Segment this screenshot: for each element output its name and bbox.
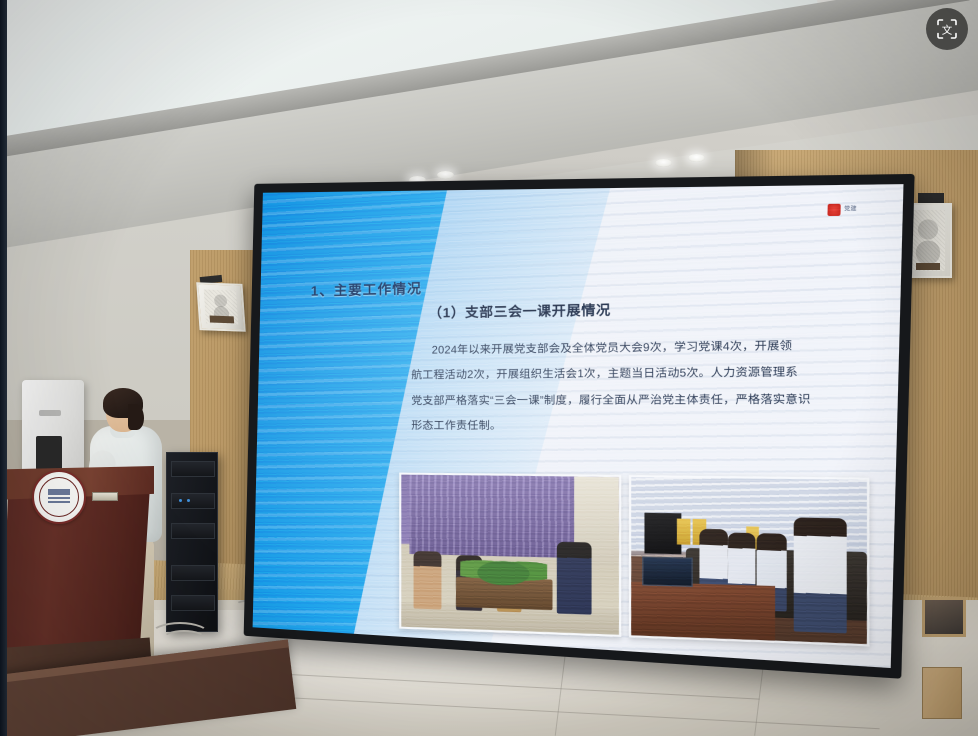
slide-logo: 党建 [827, 204, 857, 216]
rack-unit [171, 523, 215, 539]
photo-curtain [409, 475, 578, 558]
slide-body-line: 航工程活动2次，开展组织生活会1次，主题当日活动5次。人力资源管理系 [412, 365, 870, 384]
speaker-brand-plate [210, 316, 235, 324]
led-video-wall[interactable]: 党建 1、主要工作情况 （1）支部三会一课开展情况 2024年以来开展党支部会及… [244, 174, 915, 679]
image-left-edge [0, 0, 7, 736]
rack-unit [171, 595, 215, 611]
slide-photo-row [399, 473, 869, 647]
downlight-icon [437, 171, 454, 179]
dispenser-bay [36, 436, 62, 470]
presentation-slide: 党建 1、主要工作情况 （1）支部三会一课开展情况 2024年以来开展党支部会及… [253, 184, 904, 668]
dispenser-taps[interactable] [39, 410, 61, 416]
scan-button-glyph: 文 [942, 24, 953, 37]
rack-led-icon [187, 499, 190, 502]
rack-unit [171, 461, 215, 477]
sofa-study-session-photo [628, 475, 868, 646]
university-crest-icon [32, 470, 86, 524]
photo-plant [460, 552, 547, 588]
av-equipment-rack [166, 452, 218, 632]
screenshot-canvas: 党建 1、主要工作情况 （1）支部三会一课开展情况 2024年以来开展党支部会及… [0, 0, 978, 736]
photo-person [794, 518, 847, 633]
slide-body-line: 形态工作责任制。 [412, 419, 870, 435]
speaker-mount-right [918, 193, 944, 203]
wall-speaker-left [196, 282, 246, 331]
meeting-round-table-photo [399, 473, 621, 637]
slide-section-title: 1、主要工作情况 [310, 276, 421, 299]
floor-cable [162, 630, 206, 648]
photo-person [556, 542, 592, 615]
party-emblem-icon [827, 204, 840, 216]
photo-person [413, 551, 441, 610]
slide-body-line: 党支部严格落实“三会一课”制度，履行全面从严治党主体责任，严格落实意识 [412, 392, 870, 409]
photo-laptop [642, 557, 693, 587]
photo-plaque [676, 519, 690, 545]
rack-unit [171, 493, 215, 509]
rack-led-icon [179, 499, 182, 502]
crest-mark [48, 489, 70, 505]
photo-desk [630, 581, 774, 640]
slide-body-text: 2024年以来开展党支部会及全体党员大会9次，学习党课4次，开展领 航工程活动2… [412, 338, 870, 446]
slide-subtitle: （1）支部三会一课开展情况 [429, 299, 611, 322]
rack-unit [171, 565, 215, 581]
speaker-grille [911, 210, 945, 271]
electrical-panel-cover [922, 667, 962, 719]
text-scan-button[interactable]: 文 [926, 8, 968, 50]
speaker-brand-plate [916, 263, 940, 270]
downlight-icon [688, 154, 705, 162]
screen-surface[interactable]: 党建 1、主要工作情况 （1）支部三会一课开展情况 2024年以来开展党支部会及… [253, 184, 904, 668]
slide-logo-text: 党建 [844, 207, 857, 213]
text-scan-icon: 文 [934, 16, 960, 42]
downlight-icon [655, 159, 672, 167]
photo-monitor [644, 512, 681, 554]
electrical-panel[interactable] [922, 597, 966, 637]
lectern-control-plate[interactable] [92, 492, 118, 501]
presenter-hair-side [128, 404, 144, 430]
